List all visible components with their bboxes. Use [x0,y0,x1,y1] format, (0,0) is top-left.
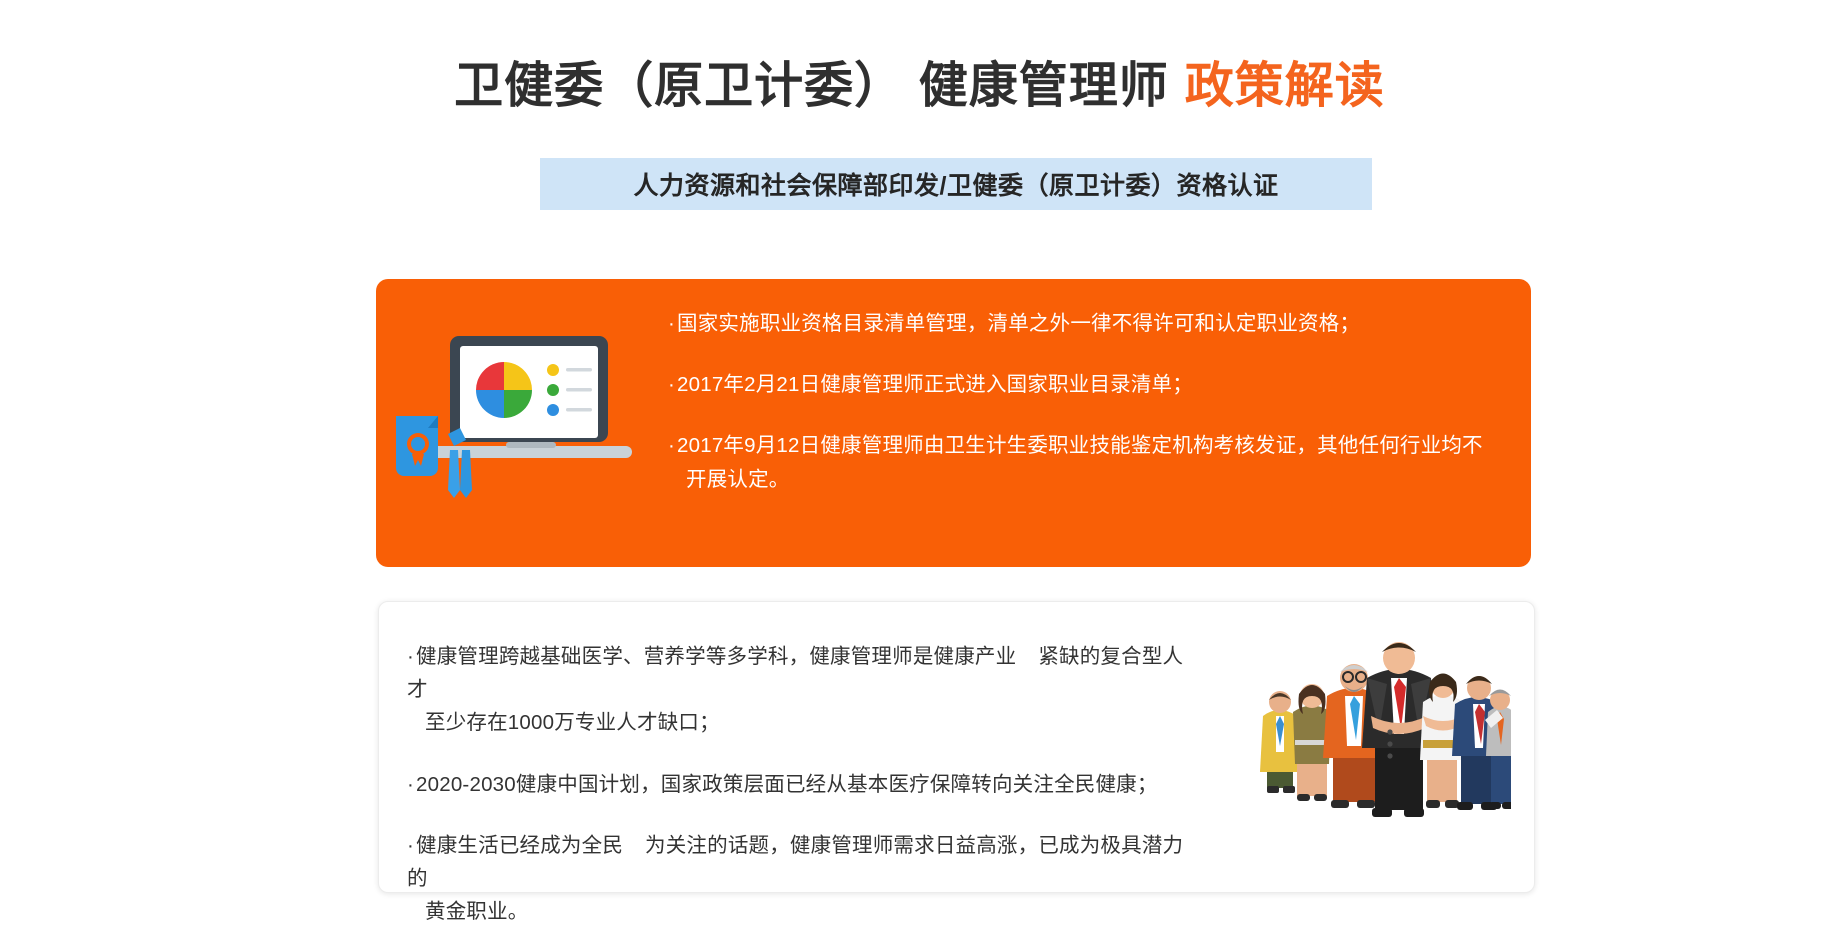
bullet-line-1-a: 健康生活已经成为全民 [416,834,623,857]
bullet-marker: · [668,373,675,396]
industry-bullet: ·健康管理跨越基础医学、营养学等多学科，健康管理师是健康产业紧缺的复合型人才 至… [407,640,1197,740]
bullet-marker: · [668,312,675,335]
policy-card: ·国家实施职业资格目录清单管理，清单之外一律不得许可和认定职业资格； ·2017… [376,279,1531,567]
bullet-line-1: 2017年9月12日健康管理师由卫生计生委职业技能鉴定机构考核发证，其他任何行业… [677,434,1483,457]
subtitle-text: 人力资源和社会保障部印发/卫健委（原卫计委）资格认证 [634,166,1279,202]
policy-bullet: ·2017年9月12日健康管理师由卫生计生委职业技能鉴定机构考核发证，其他任何行… [668,429,1508,495]
bullet-line-2: 黄金职业。 [407,895,1197,928]
industry-bullet: ·2020-2030健康中国计划，国家政策层面已经从基本医疗保障转向关注全民健康… [407,768,1197,801]
bullet-marker: · [407,645,414,668]
bullet-line-1: 国家实施职业资格目录清单管理，清单之外一律不得许可和认定职业资格； [677,312,1360,335]
page-title: 卫健委（原卫计委） 健康管理师政策解读 [0,62,1839,111]
laptop-pie-chart-icon [388,324,648,504]
bullet-line-1: 2017年2月21日健康管理师正式进入国家职业目录清单； [677,373,1193,396]
bullet-marker: · [407,834,414,857]
industry-bullet: ·健康生活已经成为全民为关注的话题，健康管理师需求日益高涨，已成为极具潜力的 黄… [407,829,1197,928]
policy-bullet: ·2017年2月21日健康管理师正式进入国家职业目录清单； [668,368,1508,401]
page-title-main: 卫健委（原卫计委） 健康管理师 [454,59,1169,113]
page-title-accent: 政策解读 [1185,59,1385,113]
industry-card: ·健康管理跨越基础医学、营养学等多学科，健康管理师是健康产业紧缺的复合型人才 至… [378,601,1535,893]
bullet-line-1-a: 2020-2030健康中国计划，国家政策层面已经从基本医疗保障转向关注全民健康； [416,773,1158,796]
bullet-marker: · [668,434,675,457]
bullet-marker: · [407,773,414,796]
subtitle-band: 人力资源和社会保障部印发/卫健委（原卫计委）资格认证 [540,158,1372,210]
policy-bullet: ·国家实施职业资格目录清单管理，清单之外一律不得许可和认定职业资格； [668,307,1508,340]
business-people-group-icon [1251,624,1511,824]
bullet-line-1-a: 健康管理跨越基础医学、营养学等多学科，健康管理师是健康产业 [416,645,1016,668]
bullet-line-2: 至少存在1000万专业人才缺口； [407,706,1197,739]
bullet-line-2: 开展认定。 [668,463,1508,496]
policy-bullet-list: ·国家实施职业资格目录清单管理，清单之外一律不得许可和认定职业资格； ·2017… [668,307,1508,496]
industry-bullet-list: ·健康管理跨越基础医学、营养学等多学科，健康管理师是健康产业紧缺的复合型人才 至… [407,640,1197,928]
page-root: 卫健委（原卫计委） 健康管理师政策解读 人力资源和社会保障部印发/卫健委（原卫计… [0,0,1839,899]
